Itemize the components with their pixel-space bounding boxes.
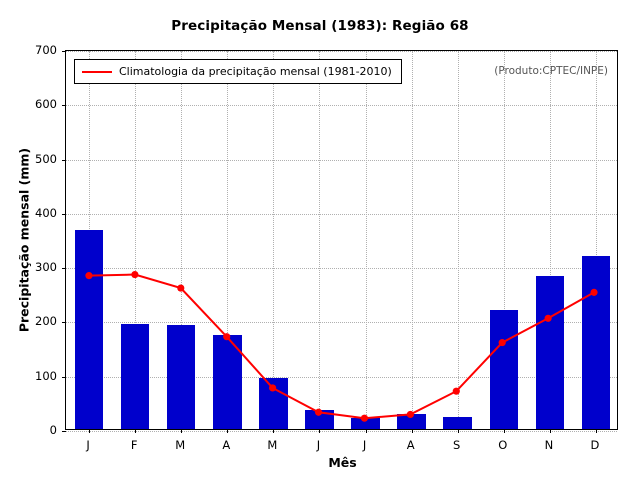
data-point-marker	[223, 333, 230, 340]
y-tick-mark	[62, 322, 66, 323]
legend-line-swatch	[82, 71, 112, 73]
y-tick-label: 400	[0, 206, 57, 220]
data-point-marker	[315, 409, 322, 416]
x-tick-mark	[227, 429, 228, 433]
y-tick-mark	[62, 51, 66, 52]
y-tick-mark	[62, 268, 66, 269]
y-tick-mark	[62, 377, 66, 378]
x-tick-label: S	[453, 438, 460, 452]
source-note: (Produto:CPTEC/INPE)	[494, 65, 608, 77]
y-tick-label: 200	[0, 314, 57, 328]
x-tick-label: A	[407, 438, 415, 452]
data-point-marker	[407, 411, 414, 418]
chart-figure: Precipitação Mensal (1983): Região 68 Cl…	[0, 0, 640, 500]
x-tick-label: M	[267, 438, 277, 452]
data-point-marker	[453, 388, 460, 395]
y-tick-label: 600	[0, 97, 57, 111]
legend: Climatologia da precipitação mensal (198…	[74, 59, 402, 84]
x-tick-label: J	[86, 438, 89, 452]
x-tick-mark	[135, 429, 136, 433]
y-tick-mark	[62, 214, 66, 215]
x-tick-label: J	[363, 438, 366, 452]
y-axis-label: Precipitação mensal (mm)	[17, 148, 32, 332]
x-tick-mark	[458, 429, 459, 433]
data-point-marker	[131, 271, 138, 278]
y-tick-label: 500	[0, 152, 57, 166]
x-tick-mark	[550, 429, 551, 433]
y-tick-label: 0	[0, 423, 57, 437]
x-tick-label: J	[317, 438, 320, 452]
x-tick-label: M	[175, 438, 185, 452]
data-point-marker	[361, 415, 368, 422]
chart-title: Precipitação Mensal (1983): Região 68	[0, 18, 640, 34]
data-point-marker	[590, 289, 597, 296]
plot-area: Climatologia da precipitação mensal (198…	[65, 50, 618, 430]
data-point-marker	[499, 339, 506, 346]
gridline-horizontal	[66, 431, 617, 432]
data-point-marker	[85, 272, 92, 279]
x-axis-label: Mês	[66, 455, 619, 470]
x-tick-mark	[596, 429, 597, 433]
x-tick-label: O	[498, 438, 507, 452]
x-tick-mark	[319, 429, 320, 433]
y-tick-mark	[62, 160, 66, 161]
x-tick-mark	[273, 429, 274, 433]
x-tick-label: N	[545, 438, 554, 452]
y-tick-label: 300	[0, 260, 57, 274]
y-tick-label: 100	[0, 369, 57, 383]
data-point-marker	[545, 315, 552, 322]
y-tick-mark	[62, 105, 66, 106]
x-tick-mark	[89, 429, 90, 433]
x-tick-label: D	[591, 438, 600, 452]
data-point-marker	[177, 284, 184, 291]
x-tick-mark	[504, 429, 505, 433]
data-point-marker	[269, 384, 276, 391]
y-tick-mark	[62, 431, 66, 432]
climatology-line	[89, 275, 594, 419]
x-tick-mark	[181, 429, 182, 433]
x-tick-mark	[366, 429, 367, 433]
y-tick-label: 700	[0, 43, 57, 57]
climatology-line-series	[66, 51, 617, 429]
x-tick-label: F	[131, 438, 138, 452]
x-tick-mark	[412, 429, 413, 433]
legend-entry-label: Climatologia da precipitação mensal (198…	[119, 66, 392, 77]
x-tick-label: A	[222, 438, 230, 452]
